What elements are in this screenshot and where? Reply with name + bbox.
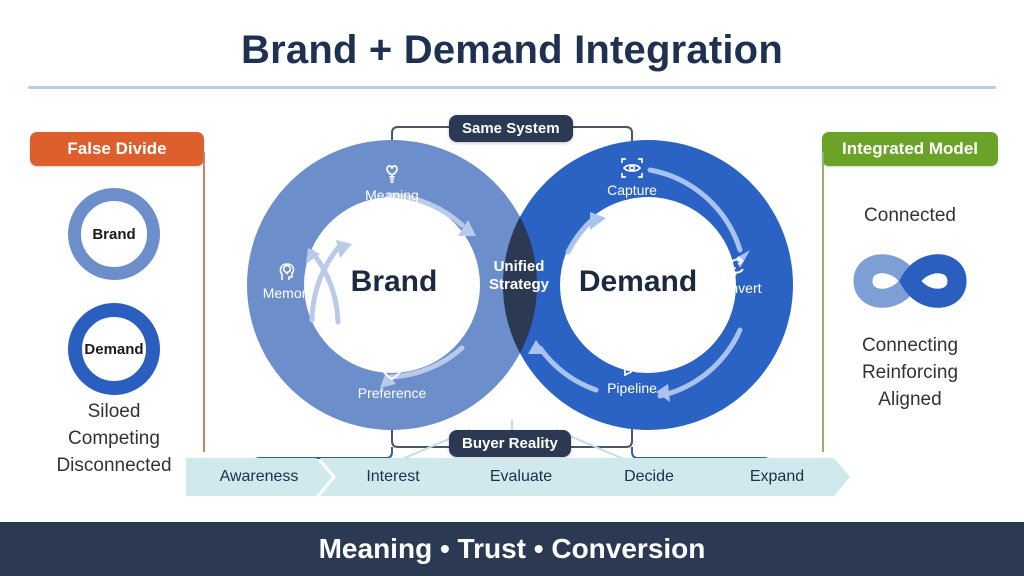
buyer-reality-pill: Buyer Reality bbox=[449, 430, 571, 457]
funnel-stage-evaluate[interactable]: Evaluate bbox=[448, 458, 594, 496]
funnel-stage-label: Evaluate bbox=[490, 468, 552, 486]
demand-circle-label: Demand bbox=[573, 265, 703, 299]
node-convert: Convert bbox=[689, 253, 785, 296]
unified-strategy-line1: Unified bbox=[478, 258, 560, 276]
heart-icon bbox=[344, 358, 440, 384]
node-memory-label: Memory bbox=[263, 285, 314, 301]
node-pipeline: Pipeline bbox=[584, 353, 680, 396]
funnel-stage-label: Decide bbox=[624, 468, 674, 486]
refresh-arrows-icon bbox=[689, 253, 785, 279]
slide-canvas: Brand + Demand Integration False Divide … bbox=[0, 0, 1024, 576]
footer-text: Meaning • Trust • Conversion bbox=[319, 533, 706, 565]
head-brain-icon bbox=[240, 258, 336, 284]
brand-circle-label: Brand bbox=[344, 265, 444, 299]
node-meaning: Meaning bbox=[344, 160, 440, 203]
node-preference-label: Preference bbox=[358, 385, 426, 401]
node-capture: Capture bbox=[584, 155, 680, 198]
funnel-stage-label: Awareness bbox=[220, 468, 299, 486]
funnel-stage-awareness[interactable]: Awareness bbox=[186, 458, 332, 496]
funnel-stage-expand[interactable]: Expand bbox=[704, 458, 850, 496]
node-preference: Preference bbox=[344, 358, 440, 401]
unified-strategy-line2: Strategy bbox=[478, 276, 560, 294]
funnel-stage-label: Expand bbox=[750, 468, 804, 486]
node-convert-label: Convert bbox=[712, 280, 761, 296]
eye-scan-icon bbox=[584, 155, 680, 181]
funnel-stage-decide[interactable]: Decide bbox=[576, 458, 722, 496]
node-memory: Memory bbox=[240, 258, 336, 301]
funnel-arrows-icon bbox=[584, 353, 680, 379]
unified-strategy-label: Unified Strategy bbox=[478, 258, 560, 294]
heart-bulb-icon bbox=[344, 160, 440, 186]
footer-bar: Meaning • Trust • Conversion bbox=[0, 522, 1024, 576]
node-meaning-label: Meaning bbox=[365, 187, 419, 203]
funnel-stage-interest[interactable]: Interest bbox=[320, 458, 466, 496]
node-capture-label: Capture bbox=[607, 182, 657, 198]
funnel-stage-label: Interest bbox=[366, 468, 419, 486]
same-system-pill: Same System bbox=[449, 115, 573, 142]
node-pipeline-label: Pipeline bbox=[607, 380, 657, 396]
